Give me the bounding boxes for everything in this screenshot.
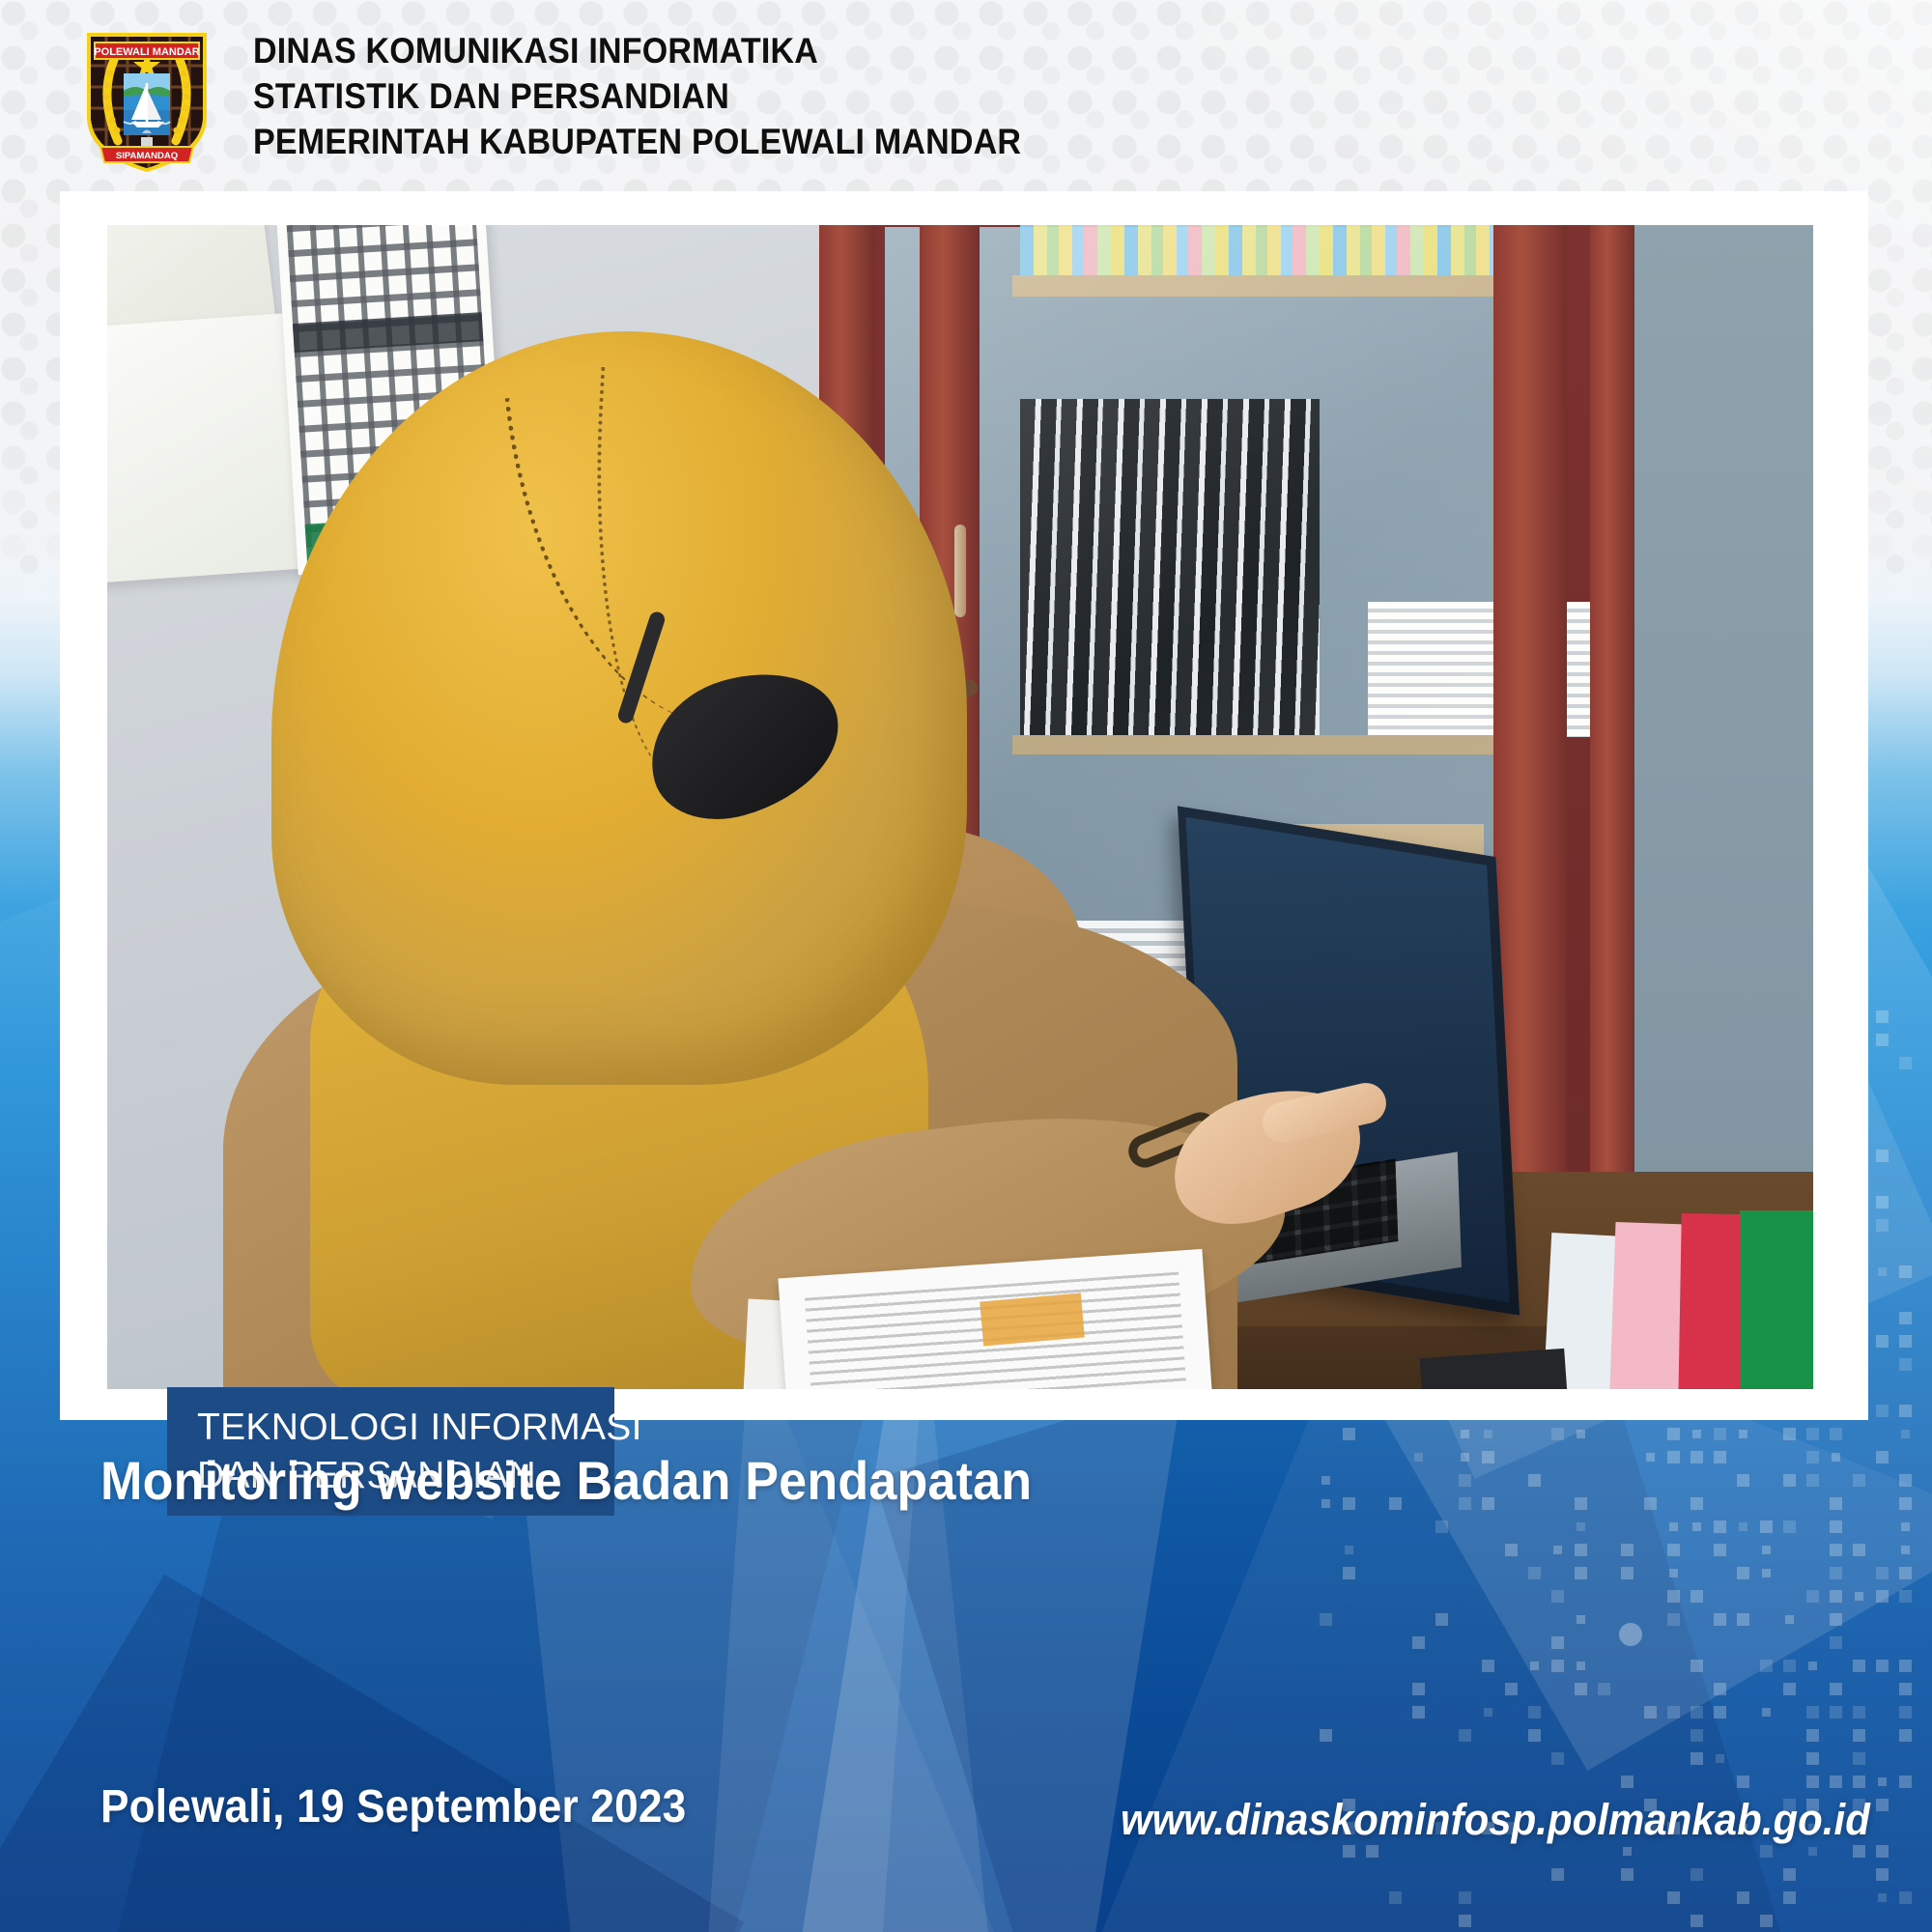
polewali-mandar-coat-of-arms-icon: POLEWALI MANDAR SIPAMANDAQ	[81, 27, 213, 172]
organization-title-block: DINAS KOMUNIKASI INFORMATIKA STATISTIK D…	[253, 28, 1021, 164]
crest-top-banner-text: POLEWALI MANDAR	[94, 46, 199, 58]
photo-highlighter-mark	[980, 1293, 1085, 1347]
org-title-line-2: STATISTIK DAN PERSANDIAN	[253, 73, 1021, 119]
photo-file-folders	[1537, 1210, 1813, 1389]
crest-bottom-ribbon-text: SIPAMANDAQ	[116, 151, 178, 161]
photo-cabinet-handle	[954, 525, 966, 617]
website-url: www.dinaskominfosp.polmankab.go.id	[1121, 1795, 1870, 1845]
photo-cabinet-stile	[1590, 225, 1634, 1196]
caption-line-1: TEKNOLOGI INFORMASI	[197, 1404, 614, 1452]
org-title-line-1: DINAS KOMUNIKASI INFORMATIKA	[253, 28, 1021, 73]
poster-headline: Monitoring website Badan Pendapatan	[100, 1449, 1032, 1512]
page-header: POLEWALI MANDAR SIPAMANDAQ DINAS KOMUNIK…	[0, 0, 1932, 188]
poster-canvas: POLEWALI MANDAR SIPAMANDAQ DINAS KOMUNIK…	[0, 0, 1932, 1932]
activity-photo	[107, 225, 1813, 1389]
photo-file-folder	[1740, 1210, 1813, 1389]
place-and-date: Polewali, 19 September 2023	[100, 1780, 686, 1833]
org-title-line-3: PEMERINTAH KABUPATEN POLEWALI MANDAR	[253, 119, 1021, 164]
photo-wall-right	[1614, 225, 1813, 1201]
photo-frame: TEKNOLOGI INFORMASI DAN PERSANDIAN	[60, 191, 1868, 1420]
